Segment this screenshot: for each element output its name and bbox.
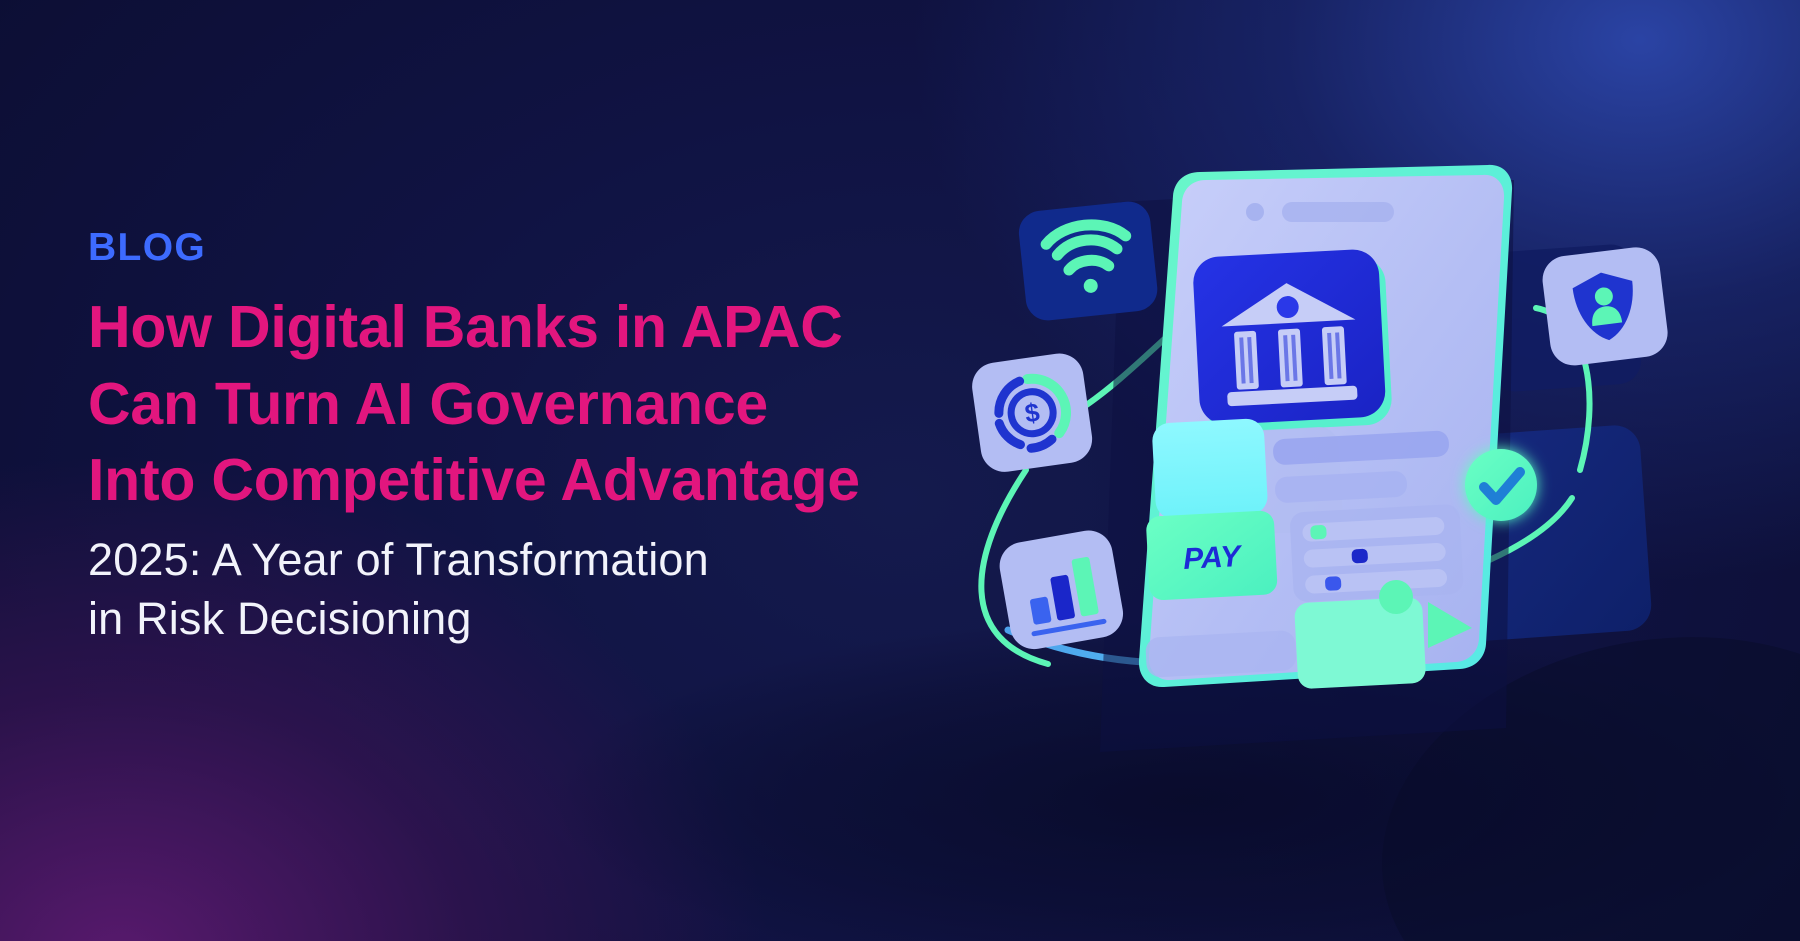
check-circle-icon[interactable]	[1465, 449, 1537, 521]
headline-line-2: Can Turn AI Governance	[88, 366, 988, 443]
page-subtitle: 2025: A Year of Transformation in Risk D…	[88, 531, 988, 648]
headline-line-3: Into Competitive Advantage	[88, 442, 988, 519]
pay-button[interactable]: PAY	[1146, 510, 1278, 601]
bar-chart-icon-tile[interactable]	[996, 527, 1127, 653]
headline-line-1: How Digital Banks in APAC	[88, 289, 988, 366]
eyebrow-label: BLOG	[88, 228, 988, 267]
path-node-dot	[1379, 580, 1413, 614]
pay-button-label: PAY	[1182, 540, 1244, 576]
hero-copy: BLOG How Digital Banks in APAC Can Turn …	[88, 228, 988, 648]
fintech-illustration: PAY	[900, 0, 1800, 941]
shield-user-icon-tile[interactable]	[1540, 245, 1671, 369]
subhead-line-2: in Risk Decisioning	[88, 590, 988, 649]
wifi-icon-tile[interactable]	[1017, 199, 1160, 322]
subhead-line-1: 2025: A Year of Transformation	[88, 531, 988, 590]
blog-hero-banner: BLOG How Digital Banks in APAC Can Turn …	[0, 0, 1800, 941]
page-title: How Digital Banks in APAC Can Turn AI Go…	[88, 289, 988, 519]
